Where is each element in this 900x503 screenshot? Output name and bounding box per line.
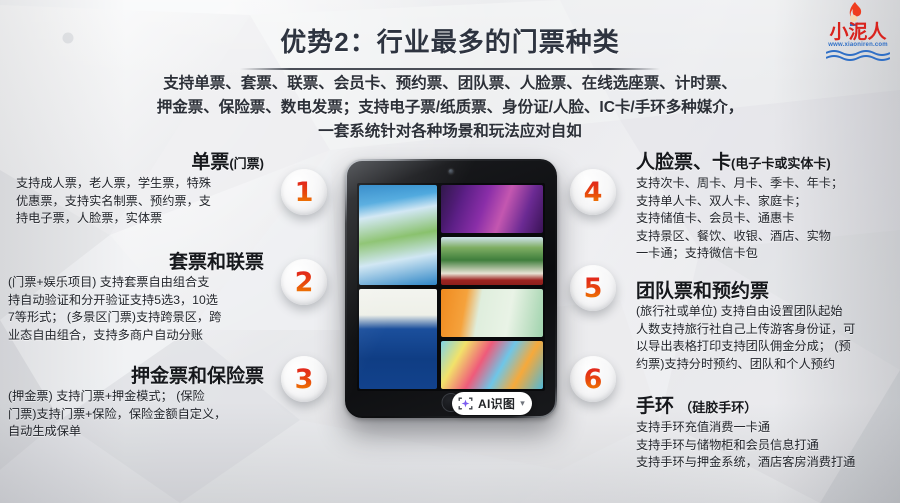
number-badge-1-label: 1	[295, 179, 314, 206]
feature-5-heading-main: 团队票和预约票	[636, 281, 769, 302]
feature-block-6: 手环 （硅胶手环） 支持手环充值消费一卡通 支持手环与储物柜和会员信息打通 支持…	[636, 396, 898, 472]
feature-block-2: 套票和联票 (门票+娱乐项目) 支持套票自由组合支 持自动验证和分开验证支持5选…	[8, 252, 264, 344]
feature-3-body: (押金票) 支持门票+押金模式； (保险 门票)支持门票+保险，保险金额自定义，…	[8, 388, 264, 441]
feature-1-heading-main: 单票	[191, 152, 229, 173]
ticket-thumb-zoo[interactable]	[441, 289, 543, 337]
ticket-thumb-column	[441, 185, 543, 389]
feature-5-line-2: 人数支持旅行社自己上传游客身份证，可	[636, 321, 898, 339]
ticket-thumb-night-show[interactable]	[441, 185, 543, 233]
feature-1-line-2: 优惠票，支持实名制票、预约票，支	[16, 193, 264, 211]
feature-2-heading-main: 套票和联票	[169, 252, 264, 273]
feature-4-body: 支持次卡、周卡、月卡、季卡、年卡； 支持单人卡、双人卡、家庭卡； 支持储值卡、会…	[636, 175, 894, 263]
chevron-down-icon[interactable]: ▾	[520, 399, 525, 408]
ai-recognize-label: AI识图	[478, 395, 515, 412]
ai-recognize-button[interactable]: AI识图 ▾	[452, 392, 532, 415]
feature-3-line-3: 自动生成保单	[8, 423, 264, 441]
feature-block-1: 单票(门票) 支持成人票，老人票，学生票，特殊 优惠票，支持实名制票、预约票，支…	[16, 152, 264, 228]
feature-3-line-2: 门票)支持门票+保险，保险金额自定义，	[8, 406, 264, 424]
feature-1-line-3: 持电子票，人脸票，实体票	[16, 210, 264, 228]
feature-4-line-4: 支持景区、餐饮、收银、酒店、实物	[636, 228, 894, 246]
subtitle-line-1: 支持单票、套票、联票、会员卡、预约票、团队票、人脸票、在线选座票、计时票、	[96, 72, 804, 96]
number-badge-5-label: 5	[584, 275, 603, 302]
feature-2-heading: 套票和联票	[8, 252, 264, 274]
number-badge-3: 3	[281, 356, 327, 402]
feature-block-5: 团队票和预约票 (旅行社或单位) 支持自由设置团队起始 人数支持旅行社自己上传游…	[636, 281, 898, 373]
front-camera-icon	[449, 169, 454, 174]
feature-5-heading: 团队票和预约票	[636, 281, 898, 303]
feature-1-body: 支持成人票，老人票，学生票，特殊 优惠票，支持实名制票、预约票，支 持电子票，人…	[16, 175, 264, 228]
feature-2-line-2: 持自动验证和分开验证支持5选3，10选	[8, 292, 264, 310]
feature-5-body: (旅行社或单位) 支持自由设置团队起始 人数支持旅行社自己上传游客身份证，可 以…	[636, 303, 898, 373]
feature-3-heading: 押金票和保险票	[8, 366, 264, 388]
slide-canvas: 小泥人 www.xiaoniren.com 优势2：行业最多的门票种类 支持单票…	[0, 0, 900, 503]
subtitle-line-2: 押金票、保险票、数电发票；支持电子票/纸质票、身份证/人脸、IC卡/手环多种媒介…	[96, 96, 804, 120]
feature-5-line-3: 以导出表格打印支持团队佣金分成； (预	[636, 338, 898, 356]
number-badge-1: 1	[281, 169, 327, 215]
feature-4-line-2: 支持单人卡、双人卡、家庭卡；	[636, 193, 894, 211]
ticket-thumb-scenic-map[interactable]	[359, 185, 437, 285]
feature-block-3: 押金票和保险票 (押金票) 支持门票+押金模式； (保险 门票)支持门票+保险，…	[8, 366, 264, 441]
number-badge-2-label: 2	[295, 269, 314, 296]
tablet-device	[345, 159, 557, 418]
feature-6-line-2: 支持手环与储物柜和会员信息打通	[636, 437, 898, 455]
feature-4-heading-sub: (电子卡或实体卡)	[731, 156, 831, 171]
feature-4-heading-main: 人脸票、卡	[636, 152, 731, 173]
feature-5-line-1: (旅行社或单位) 支持自由设置团队起始	[636, 303, 898, 321]
number-badge-6: 6	[570, 356, 616, 402]
feature-6-line-3: 支持手环与押金系统，酒店客房消费打通	[636, 454, 898, 472]
feature-2-line-4: 业态自由组合，支持多商户自动分账	[8, 327, 264, 345]
feature-2-body: (门票+娱乐项目) 支持套票自由组合支 持自动验证和分开验证支持5选3，10选 …	[8, 274, 264, 344]
feature-6-body: 支持手环充值消费一卡通 支持手环与储物柜和会员信息打通 支持手环与押金系统，酒店…	[636, 419, 898, 472]
feature-6-heading-sub: （硅胶手环）	[679, 400, 757, 415]
ticket-thumb-blue-card[interactable]	[359, 289, 437, 389]
number-badge-3-label: 3	[295, 366, 314, 393]
feature-1-heading-sub: (门票)	[229, 156, 264, 171]
feature-block-4: 人脸票、卡(电子卡或实体卡) 支持次卡、周卡、月卡、季卡、年卡； 支持单人卡、双…	[636, 152, 894, 263]
number-badge-5: 5	[570, 265, 616, 311]
feature-1-line-1: 支持成人票，老人票，学生票，特殊	[16, 175, 264, 193]
feature-1-heading: 单票(门票)	[16, 152, 264, 175]
ticket-thumb-forest-park[interactable]	[441, 237, 543, 285]
feature-4-line-5: 一卡通；支持微信卡包	[636, 245, 894, 263]
feature-3-heading-main: 押金票和保险票	[131, 366, 264, 387]
page-title: 优势2：行业最多的门票种类	[0, 22, 900, 59]
feature-4-line-1: 支持次卡、周卡、月卡、季卡、年卡；	[636, 175, 894, 193]
feature-6-heading: 手环 （硅胶手环）	[636, 396, 898, 419]
sparkle-scan-icon	[458, 396, 473, 411]
feature-4-line-3: 支持储值卡、会员卡、通惠卡	[636, 210, 894, 228]
page-subtitle: 支持单票、套票、联票、会员卡、预约票、团队票、人脸票、在线选座票、计时票、 押金…	[96, 72, 804, 144]
feature-6-line-1: 支持手环充值消费一卡通	[636, 419, 898, 437]
feature-2-line-3: 7等形式； (多景区门票)支持跨景区，跨	[8, 309, 264, 327]
tablet-screen	[357, 183, 545, 391]
subtitle-line-3: 一套系统针对各种场景和玩法应对自如	[96, 120, 804, 144]
number-badge-4: 4	[570, 169, 616, 215]
number-badge-2: 2	[281, 259, 327, 305]
feature-2-line-1: (门票+娱乐项目) 支持套票自由组合支	[8, 274, 264, 292]
feature-3-line-1: (押金票) 支持门票+押金模式； (保险	[8, 388, 264, 406]
feature-4-heading: 人脸票、卡(电子卡或实体卡)	[636, 152, 894, 175]
number-badge-4-label: 4	[584, 179, 603, 206]
feature-5-line-4: 约票)支持分时预约、团队和个人预约	[636, 356, 898, 374]
number-badge-6-label: 6	[584, 366, 603, 393]
ticket-thumb-kids-park[interactable]	[441, 341, 543, 389]
title-divider	[240, 68, 660, 70]
feature-6-heading-main: 手环	[636, 396, 674, 417]
